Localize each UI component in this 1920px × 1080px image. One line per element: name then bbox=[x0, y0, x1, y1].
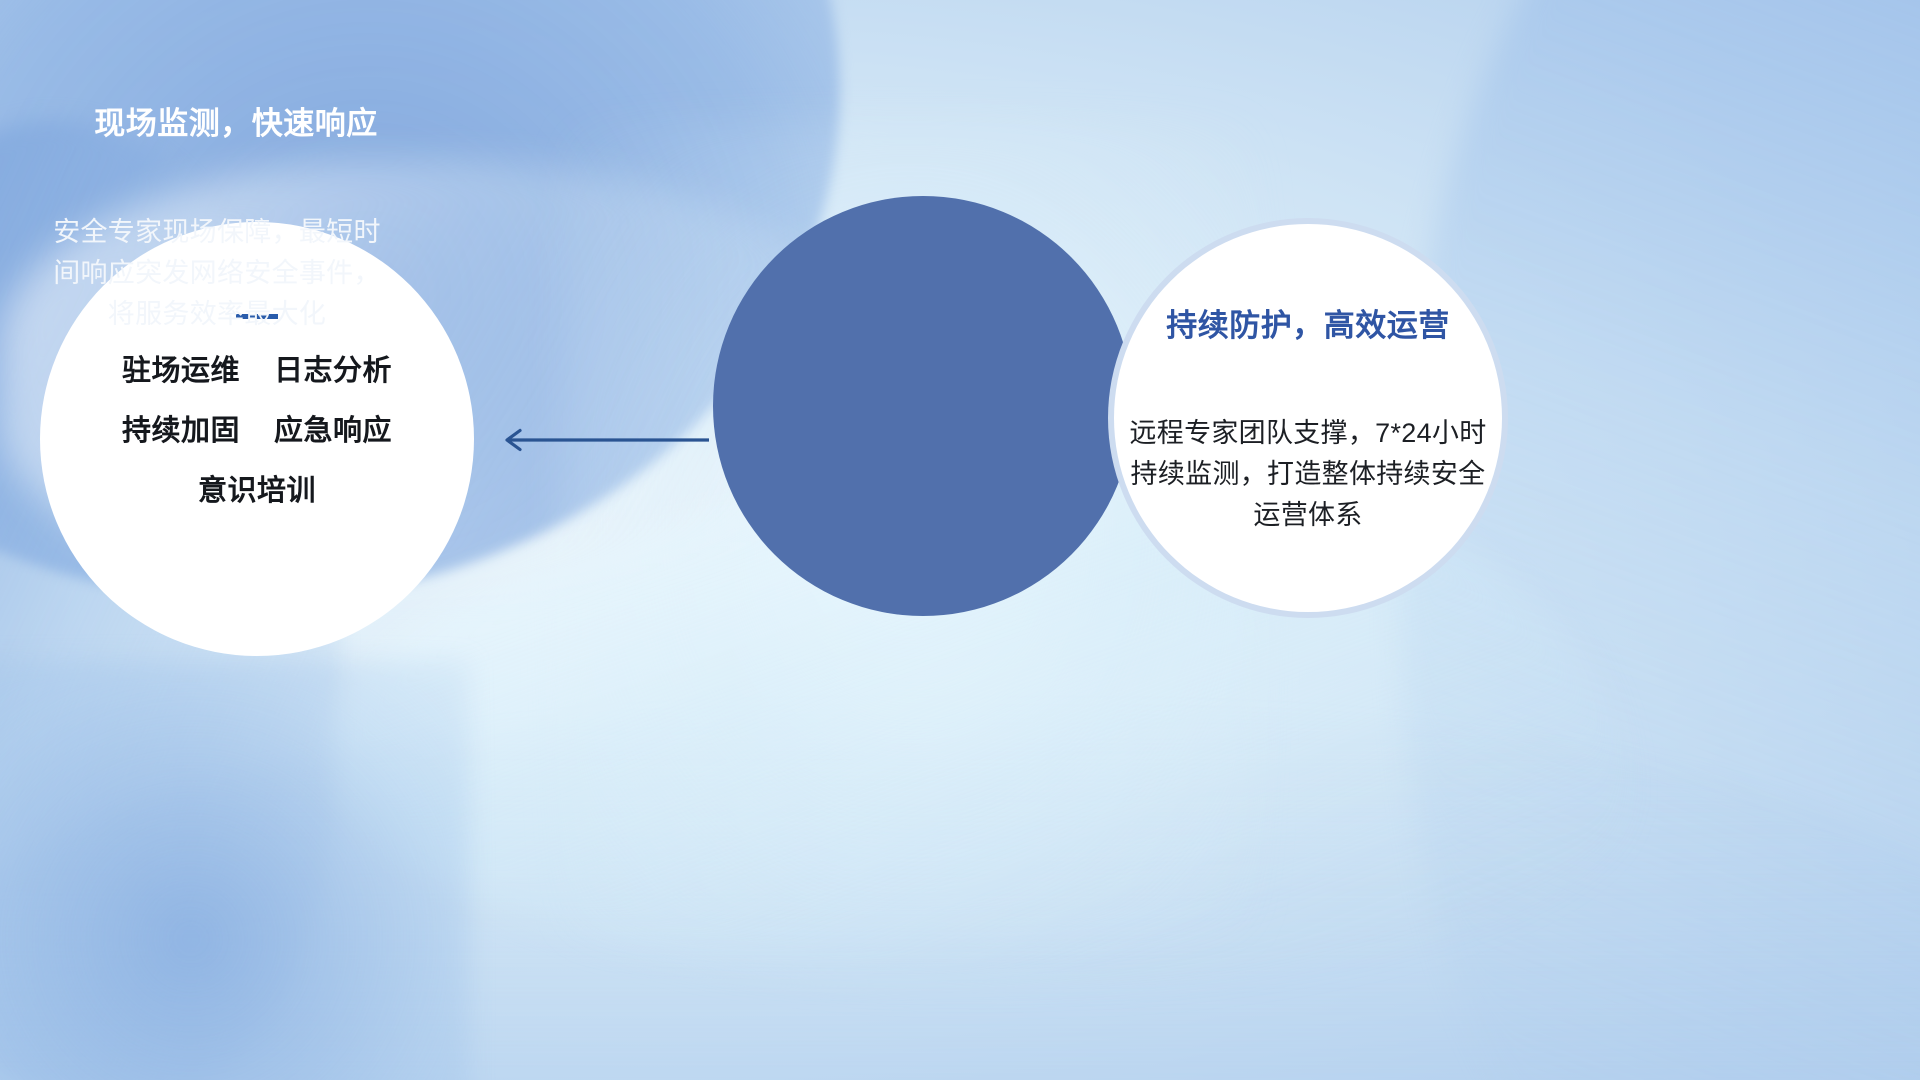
capability-tag: 驻场运维 bbox=[122, 357, 240, 386]
capability-tag: 持续加固 bbox=[122, 417, 240, 446]
slide-canvas: 驻场运维 日志分析 持续加固 应急响应 意识培训 现场监测，快速响应 安全专家现… bbox=[0, 0, 1920, 1080]
right-circle-title: 持续防护，高效运营 bbox=[1114, 300, 1502, 345]
center-circle-content bbox=[713, 196, 1133, 616]
center-circle-body: 安全专家现场保障，最短时间响应突发网络安全事件，将服务效率最大化 bbox=[52, 212, 382, 335]
capability-tag: 日志分析 bbox=[274, 357, 392, 386]
capability-row-3: 意识培训 bbox=[198, 477, 316, 506]
capability-circle-center bbox=[713, 196, 1133, 616]
capability-tag: 意识培训 bbox=[198, 477, 316, 506]
right-circle-body: 远程专家团队支撑，7*24小时持续监测，打造整体持续安全运营体系 bbox=[1128, 413, 1488, 536]
background-vignette-bottom-left bbox=[0, 660, 470, 1080]
capability-row-2: 持续加固 应急响应 bbox=[122, 417, 392, 446]
capability-row-1: 驻场运维 日志分析 bbox=[122, 357, 392, 386]
left-arrow-icon bbox=[494, 428, 709, 452]
capability-tag: 应急响应 bbox=[274, 417, 392, 446]
center-circle-title: 现场监测，快速响应 bbox=[0, 98, 420, 143]
